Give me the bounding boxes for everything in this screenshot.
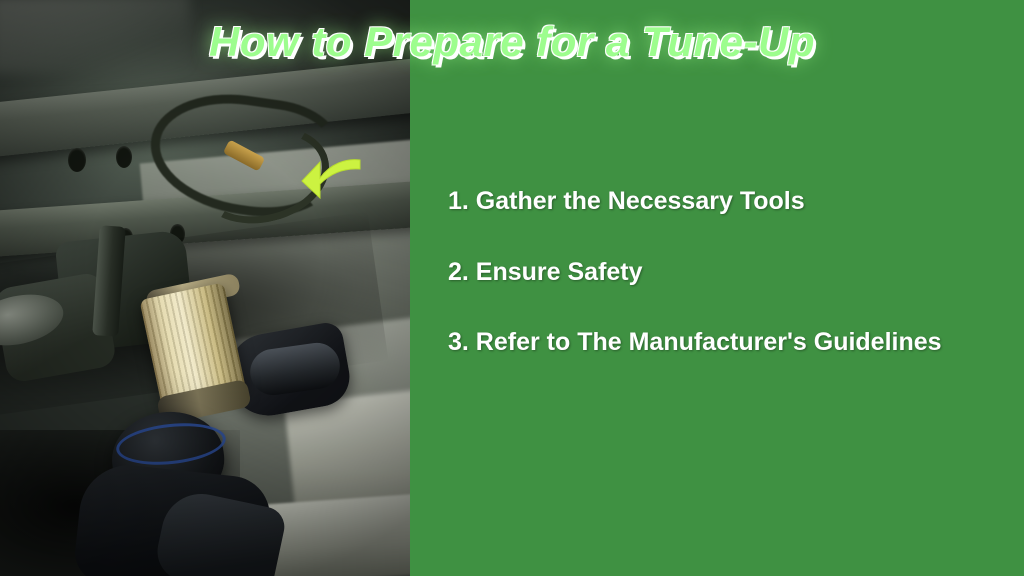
list-item: 3. Refer to The Manufacturer's Guideline…: [448, 327, 988, 358]
list-item: 1. Gather the Necessary Tools: [448, 186, 988, 217]
steps-list: 1. Gather the Necessary Tools 2. Ensure …: [448, 186, 988, 358]
page-title: How to Prepare for a Tune-Up: [0, 18, 1024, 66]
undercarriage-photo: [0, 0, 410, 576]
photo-vignette: [0, 0, 410, 576]
yellow-arrow-annotation: [300, 156, 362, 200]
slide-canvas: How to Prepare for a Tune-Up 1. Gather t…: [0, 0, 1024, 576]
list-item: 2. Ensure Safety: [448, 257, 988, 288]
